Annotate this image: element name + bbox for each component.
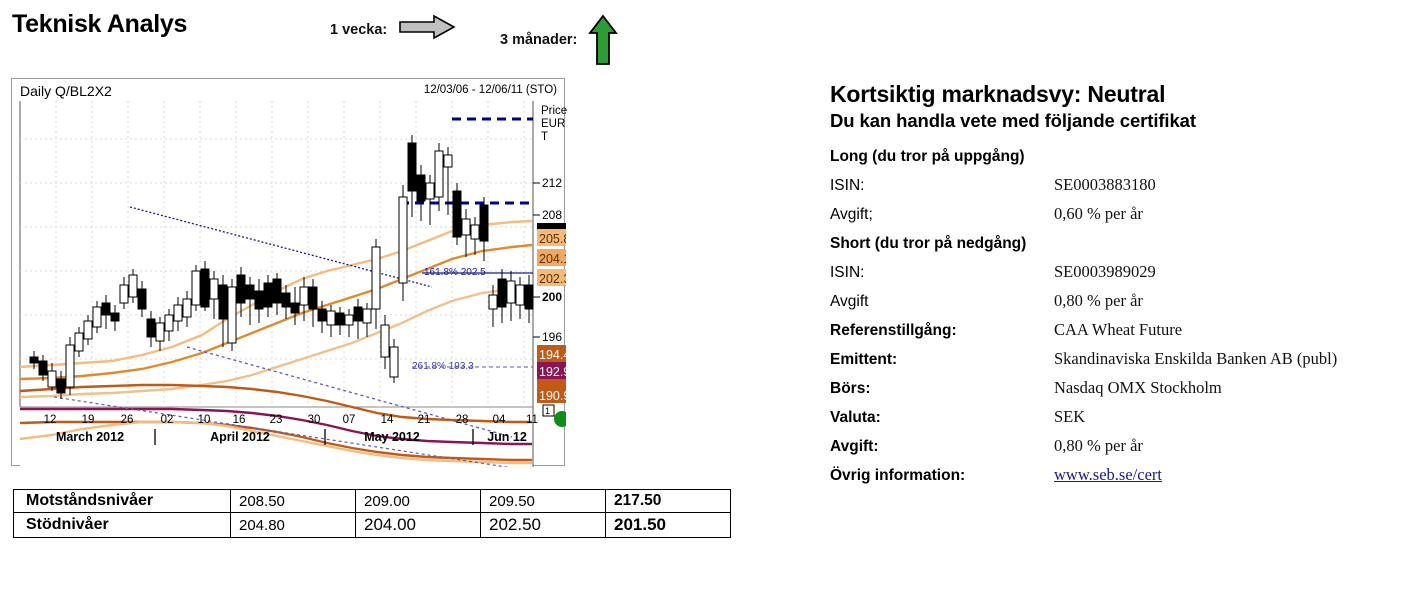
svg-text:205.8: 205.8 — [539, 232, 566, 246]
svg-text:16: 16 — [233, 414, 246, 426]
resistance-value-2: 209.00 — [356, 490, 481, 513]
info-row-long-fee: Avgift; 0,60 % per år — [830, 204, 1410, 233]
svg-text:19: 19 — [82, 414, 95, 426]
price-axis-tags: 205.8 204.1 202.3 194.4 192.9 190.9 1 — [537, 223, 566, 416]
signal-three-months: 3 månader: — [500, 14, 618, 66]
svg-text:200: 200 — [542, 290, 562, 304]
more-info-link[interactable]: www.seb.se/cert — [1054, 465, 1162, 485]
signal-three-months-label: 3 månader: — [500, 32, 577, 48]
resistance-value-3: 209.50 — [481, 490, 606, 513]
price-axis-title-line-2: EUR — [541, 118, 567, 131]
support-value-2: 204.00 — [356, 513, 481, 538]
row-label-support: Stödnivåer — [14, 513, 231, 538]
svg-text:212: 212 — [542, 176, 562, 190]
signal-one-week-label: 1 vecka: — [330, 22, 387, 38]
support-value-1: 204.80 — [231, 513, 356, 538]
table-row-support: Stödnivåer 204.80 204.00 202.50 201.50 — [14, 513, 731, 538]
certificate-info-panel: Kortsiktig marknadsvy: Neutral Du kan ha… — [830, 80, 1410, 494]
info-key: Börs: — [830, 380, 1054, 398]
info-value: CAA Wheat Future — [1054, 320, 1182, 340]
svg-text:14: 14 — [381, 414, 394, 426]
technical-chart-panel[interactable]: Daily Q/BL2X2 12/03/06 - 12/06/11 (STO) — [11, 78, 565, 466]
info-value: SE0003883180 — [1054, 175, 1156, 195]
table-row-resistance: Motståndsnivåer 208.50 209.00 209.50 217… — [14, 490, 731, 513]
svg-text:02: 02 — [161, 414, 174, 426]
info-value: 0,60 % per år — [1054, 204, 1143, 224]
page-title: Teknisk Analys — [12, 10, 187, 39]
fibonacci-label-161: 161.8% 202.5 — [424, 267, 486, 278]
info-value: Skandinaviska Enskilda Banken AB (publ) — [1054, 349, 1337, 369]
section-header-short: Short (du tror på nedgång) — [830, 233, 1410, 262]
svg-text:190.9: 190.9 — [539, 389, 566, 403]
price-axis-title-line-1: Price — [541, 105, 567, 118]
info-row-more-info: Övrig information: www.seb.se/cert — [830, 465, 1410, 494]
svg-text:21: 21 — [418, 414, 431, 426]
signal-one-week: 1 vecka: — [330, 14, 456, 45]
info-key: Avgift: — [830, 438, 1054, 456]
certificate-details-list: Long (du tror på uppgång) ISIN: SE000388… — [830, 146, 1410, 494]
svg-text:10: 10 — [198, 414, 211, 426]
info-row-issuer: Emittent: Skandinaviska Enskilda Banken … — [830, 349, 1410, 378]
svg-text:11: 11 — [526, 414, 538, 426]
svg-text:26: 26 — [121, 414, 134, 426]
svg-text:April 2012: April 2012 — [210, 430, 270, 444]
info-value: 0,80 % per år — [1054, 436, 1143, 456]
section-header-long: Long (du tror på uppgång) — [830, 146, 1410, 175]
page-header: Teknisk Analys 1 vecka: 3 månader: — [0, 0, 1418, 60]
arrow-up-icon — [588, 14, 618, 66]
info-value: Nasdaq OMX Stockholm — [1054, 378, 1222, 398]
svg-text:March 2012: March 2012 — [56, 430, 124, 444]
resistance-value-1: 208.50 — [231, 490, 356, 513]
info-value: SEK — [1054, 407, 1085, 427]
svg-text:196: 196 — [542, 330, 562, 344]
resistance-value-4: 217.50 — [606, 490, 731, 513]
market-view-subheading: Du kan handla vete med följande certifik… — [830, 109, 1410, 133]
candlestick-chart-svg: 161.8% 202.5 261.8% 193.3 212 208 200 19… — [12, 79, 566, 467]
info-row-long-isin: ISIN: SE0003883180 — [830, 175, 1410, 204]
info-key: Avgift; — [830, 206, 1054, 224]
svg-text:07: 07 — [343, 414, 356, 426]
info-row-exchange: Börs: Nasdaq OMX Stockholm — [830, 378, 1410, 407]
svg-text:04: 04 — [493, 414, 506, 426]
info-value: SE0003989029 — [1054, 262, 1156, 282]
svg-text:23: 23 — [270, 414, 283, 426]
status-dot-green — [554, 411, 566, 427]
svg-text:28: 28 — [456, 414, 469, 426]
price-axis-title: Price EUR T — [541, 105, 567, 144]
info-key: ISIN: — [830, 177, 1054, 195]
svg-text:1: 1 — [545, 406, 550, 416]
info-row-currency: Valuta: SEK — [830, 407, 1410, 436]
svg-text:204.1: 204.1 — [539, 252, 566, 266]
info-value: 0,80 % per år — [1054, 291, 1143, 311]
info-key: Referenstillgång: — [830, 322, 1054, 340]
svg-text:Jun 12: Jun 12 — [487, 430, 527, 444]
chart-canvas: 161.8% 202.5 261.8% 193.3 212 208 200 19… — [12, 79, 566, 467]
support-resistance-table: Motståndsnivåer 208.50 209.00 209.50 217… — [13, 489, 731, 538]
arrow-right-icon — [398, 14, 456, 45]
svg-text:192.9: 192.9 — [539, 365, 566, 379]
svg-text:194.4: 194.4 — [539, 348, 566, 362]
svg-text:May 2012: May 2012 — [364, 430, 420, 444]
info-row-short-fee: Avgift 0,80 % per år — [830, 291, 1410, 320]
fibonacci-label-261: 261.8% 193.3 — [412, 361, 474, 372]
info-row-fee: Avgift: 0,80 % per år — [830, 436, 1410, 465]
info-key: ISIN: — [830, 264, 1054, 282]
support-value-3: 202.50 — [481, 513, 606, 538]
info-key: Övrig information: — [830, 467, 1054, 485]
info-key: Avgift — [830, 293, 1054, 311]
support-value-4: 201.50 — [606, 513, 731, 538]
price-axis-title-line-3: T — [541, 131, 567, 144]
svg-text:12: 12 — [44, 414, 57, 426]
market-view-heading: Kortsiktig marknadsvy: Neutral — [830, 80, 1410, 108]
row-label-resistance: Motståndsnivåer — [14, 490, 231, 513]
svg-text:202.3: 202.3 — [539, 272, 566, 286]
svg-text:208: 208 — [542, 208, 562, 222]
svg-text:30: 30 — [308, 414, 321, 426]
info-row-short-isin: ISIN: SE0003989029 — [830, 262, 1410, 291]
info-key: Emittent: — [830, 351, 1054, 369]
info-key: Valuta: — [830, 409, 1054, 427]
info-row-underlying: Referenstillgång: CAA Wheat Future — [830, 320, 1410, 349]
